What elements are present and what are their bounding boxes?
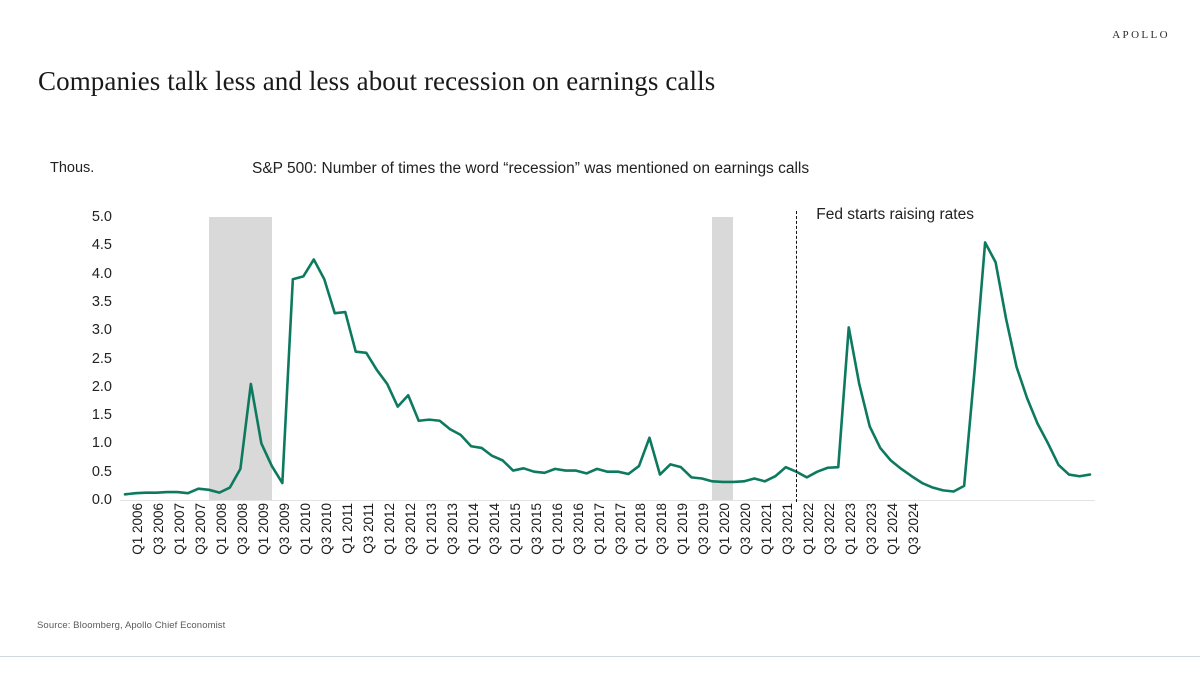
y-axis-tick-label: 3.5 (68, 294, 112, 310)
x-axis-tick-label: Q1 2017 (592, 503, 607, 555)
x-axis-tick-label: Q3 2009 (277, 503, 292, 555)
x-axis-tick-label: Q1 2006 (130, 503, 145, 555)
x-axis-baseline (120, 500, 1095, 501)
x-axis-tick-label: Q3 2016 (571, 503, 586, 555)
x-axis-tick-label: Q1 2008 (214, 503, 229, 555)
slide-canvas: APOLLO Companies talk less and less abou… (0, 0, 1200, 678)
y-axis-tick-label: 3.0 (68, 322, 112, 338)
y-axis-tick-label: 0.5 (68, 464, 112, 480)
x-axis-tick-label: Q3 2015 (529, 503, 544, 555)
x-axis-tick-label: Q3 2007 (193, 503, 208, 555)
x-axis-tick-label: Q1 2010 (298, 503, 313, 555)
x-axis-tick-label: Q1 2021 (759, 503, 774, 555)
x-axis-tick-label: Q1 2020 (717, 503, 732, 555)
y-axis-tick-label: 1.0 (68, 435, 112, 451)
x-axis-tick-label: Q3 2012 (403, 503, 418, 555)
y-axis-unit-label: Thous. (50, 160, 94, 176)
x-axis-tick-label: Q1 2018 (633, 503, 648, 555)
x-axis-tick-label: Q3 2022 (822, 503, 837, 555)
y-axis-tick-label: 2.5 (68, 351, 112, 367)
x-axis-tick-label: Q1 2011 (340, 503, 355, 554)
x-axis-tick-label: Q3 2017 (613, 503, 628, 555)
y-axis-tick-label: 0.0 (68, 492, 112, 508)
footer-divider (0, 656, 1200, 657)
fed-rate-marker-label: Fed starts raising rates (816, 206, 974, 224)
x-axis-tick-label: Q3 2018 (654, 503, 669, 555)
y-axis-tick-label: 2.0 (68, 379, 112, 395)
x-axis-tick-label: Q1 2024 (885, 503, 900, 555)
y-axis-tick-label: 4.0 (68, 266, 112, 282)
x-axis-tick-label: Q3 2010 (319, 503, 334, 555)
x-axis-tick-label: Q1 2012 (382, 503, 397, 555)
x-axis-tick-label: Q3 2006 (151, 503, 166, 555)
x-axis-tick-label: Q1 2007 (172, 503, 187, 555)
x-axis-tick-label: Q1 2023 (843, 503, 858, 555)
fed-rate-marker-line (796, 211, 797, 502)
x-axis-tick-label: Q3 2011 (361, 503, 376, 554)
source-note: Source: Bloomberg, Apollo Chief Economis… (37, 620, 225, 631)
plot-area (120, 217, 1095, 500)
x-axis-tick-label: Q3 2019 (696, 503, 711, 555)
chart-subtitle: S&P 500: Number of times the word “reces… (252, 160, 809, 178)
x-axis-tick-label: Q3 2013 (445, 503, 460, 555)
x-axis-tick-label: Q1 2013 (424, 503, 439, 555)
x-axis-tick-label: Q3 2014 (487, 503, 502, 555)
y-axis-tick-label: 4.5 (68, 237, 112, 253)
y-axis-tick-label: 5.0 (68, 209, 112, 225)
x-axis-tick-label: Q3 2008 (235, 503, 250, 555)
x-axis-tick-label: Q3 2020 (738, 503, 753, 555)
x-axis-tick-label: Q1 2009 (256, 503, 271, 555)
chart-container: Thous. S&P 500: Number of times the word… (0, 0, 1200, 678)
x-axis-tick-label: Q3 2021 (780, 503, 795, 555)
x-axis-tick-label: Q1 2016 (550, 503, 565, 555)
line-series-path (125, 242, 1090, 494)
x-axis-tick-label: Q3 2024 (906, 503, 921, 555)
recession-mentions-line (120, 217, 1095, 500)
x-axis-tick-label: Q3 2023 (864, 503, 879, 555)
x-axis-tick-label: Q1 2019 (675, 503, 690, 555)
x-axis-tick-label: Q1 2014 (466, 503, 481, 555)
y-axis-tick-label: 1.5 (68, 407, 112, 423)
x-axis-tick-label: Q1 2022 (801, 503, 816, 555)
x-axis-tick-label: Q1 2015 (508, 503, 523, 555)
x-axis: Q1 2006Q3 2006Q1 2007Q3 2007Q1 2008Q3 20… (120, 503, 1095, 593)
